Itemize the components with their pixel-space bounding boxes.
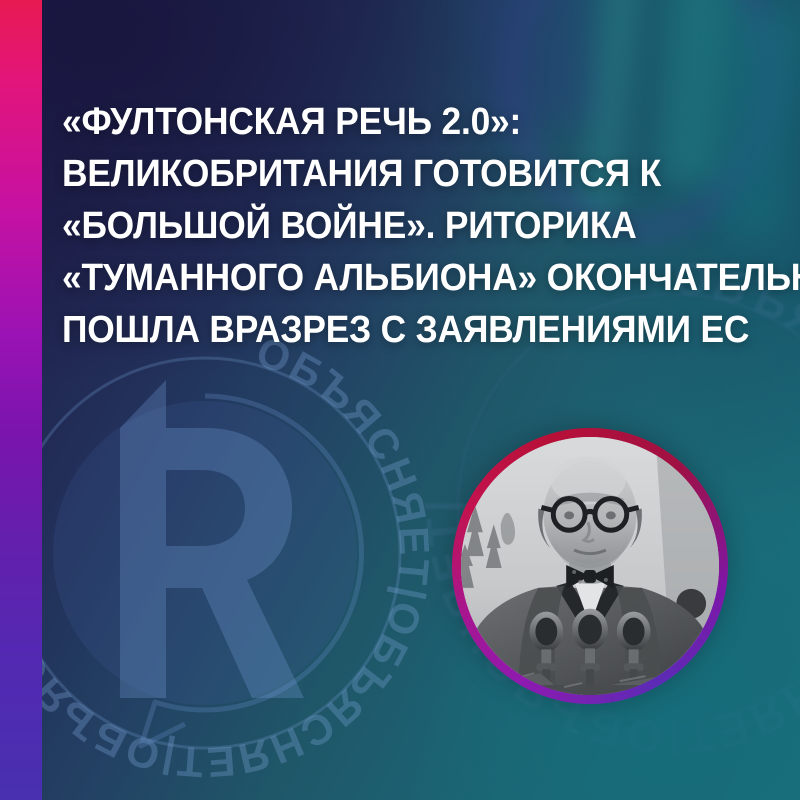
- page-title: «ФУЛТОНСКАЯ РЕЧЬ 2.0»: ВЕЛИКОБРИТАНИЯ ГО…: [62, 96, 768, 356]
- news-card: ОБЪЯСНЯЕТ|ОБЪЯСНЯЕТ|ОБЪЯСНЯЕТ| ОБЪЯСНЯЕТ…: [0, 0, 800, 800]
- headline-line-1: «ФУЛТОНСКАЯ РЕЧЬ 2.0»:: [62, 96, 719, 148]
- headline-line-4: «ТУМАННОГО АЛЬБИОНА» ОКОНЧАТЕЛЬНО: [62, 252, 719, 304]
- headline-line-5: ПОШЛА ВРАЗРЕЗ С ЗАЯВЛЕНИЯМИ ЕС: [62, 304, 719, 356]
- portrait-ring: [452, 428, 728, 704]
- portrait-photo: [461, 437, 719, 695]
- watermark-logo: ОБЪЯСНЯЕТ|ОБЪЯСНЯЕТ|ОБЪЯСНЯЕТ|: [0, 318, 440, 788]
- accent-strip: [0, 0, 42, 800]
- headline-line-2: ВЕЛИКОБРИТАНИЯ ГОТОВИТСЯ К: [62, 148, 719, 200]
- headline-line-3: «БОЛЬШОЙ ВОЙНЕ». РИТОРИКА: [62, 200, 719, 252]
